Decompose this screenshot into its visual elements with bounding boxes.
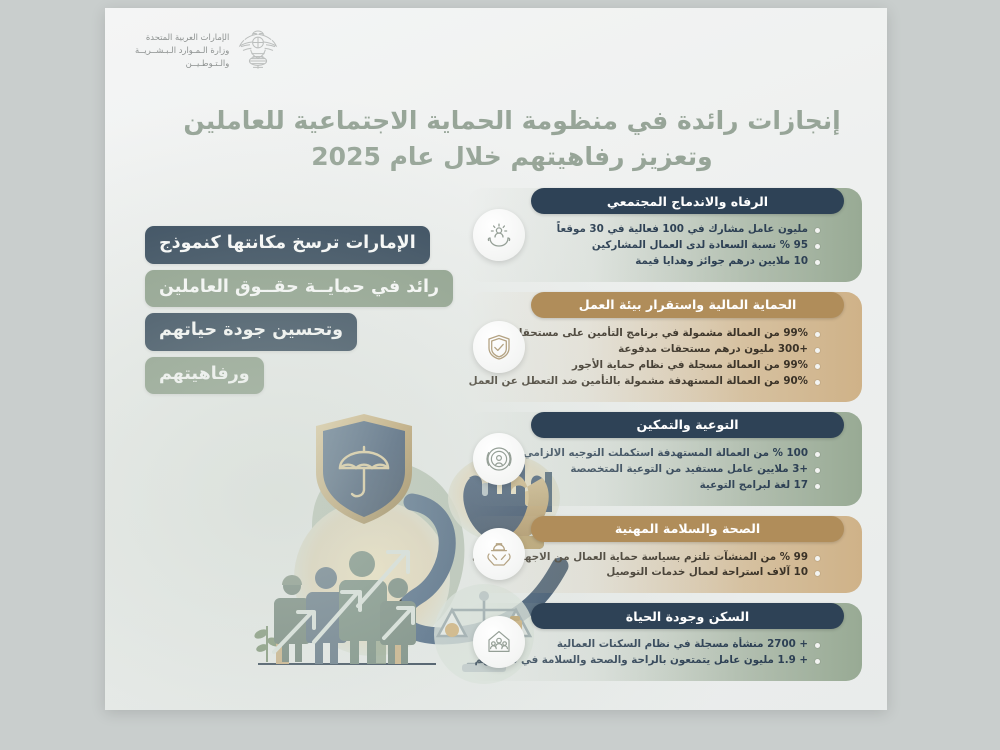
uae-falcon-emblem-icon [237,28,279,74]
poster-panel: الإمارات العربية المتحدة وزارة الـمـوارد… [105,8,887,710]
achievement-cards: الرفاه والاندماج المجتمعي مليون عامل مشا… [467,188,862,681]
card-awareness-empowerment[interactable]: التوعية والتمكين 100 % من العمالة المسته… [467,412,862,506]
tagline-1: الإمارات ترسخ مكانتها كنموذج [145,226,430,264]
list-item: 90% من العمالة المستهدفة مشمولة بالتأمين… [537,374,820,390]
tagline-3: وتحسين جودة حياتهم [145,313,357,351]
list-item: 99% من العمالة مسجلة في نظام حماية الأجو… [537,358,820,374]
infographic-poster: الإمارات العربية المتحدة وزارة الـمـوارد… [0,0,1000,750]
page-title: إنجازات رائدة في منظومة الحماية الاجتماع… [167,103,857,174]
list-item: مليون عامل مشارك في 100 فعالية في 30 موق… [537,222,820,238]
list-item: 99% من العمالة مشمولة في برنامج التأمين … [537,326,820,342]
bullet-list-awareness-empowerment: 100 % من العمالة المستهدفة استكملت التوج… [537,446,820,494]
bullet-list-health-safety: 99 % من المنشآت تلتزم بسياسة حماية العما… [537,550,820,582]
title-line-2: وتعزيز رفاهيتهم خلال عام 2025 [167,139,857,175]
card-health-safety[interactable]: الصحة والسلامة المهنية 99 % من المنشآت ت… [467,516,862,594]
bullet-list-wellbeing: مليون عامل مشارك في 100 فعالية في 30 موق… [537,222,820,270]
list-item: 100 % من العمالة المستهدفة استكملت التوج… [537,446,820,462]
awareness-broadcast-person-icon [473,433,525,485]
list-item: 99 % من المنشآت تلتزم بسياسة حماية العما… [537,550,820,566]
list-item: 10 آلاف استراحة لعمال خدمات التوصيل [537,565,820,581]
tagline-stack: الإمارات ترسخ مكانتها كنموذج رائد في حما… [145,226,475,394]
card-housing-quality-of-life[interactable]: السكن وجودة الحياة + 2700 منشأة مسجلة في… [467,603,862,681]
hands-holding-person-icon [473,209,525,261]
ministry-logo-block: الإمارات العربية المتحدة وزارة الـمـوارد… [135,28,279,74]
title-line-1: إنجازات رائدة في منظومة الحماية الاجتماع… [183,106,840,135]
hands-safety-helmet-icon [473,528,525,580]
card-title-financial-protection: الحماية المالية واستقرار بيئة العمل [531,292,844,318]
card-title-health-safety: الصحة والسلامة المهنية [531,516,844,542]
ministry-name: الإمارات العربية المتحدة وزارة الـمـوارد… [135,28,229,69]
ministry-line-1: الإمارات العربية المتحدة [135,32,229,43]
list-item: +3 ملايين عامل مستفيد من التوعية المتخصص… [537,462,820,478]
list-item: 95 % نسبة السعادة لدى العمال المشاركين [537,238,820,254]
card-title-housing-quality-of-life: السكن وجودة الحياة [531,603,844,629]
shield-check-icon [473,321,525,373]
bullet-list-housing-quality-of-life: + 2700 منشأة مسجلة في نظام السكنات العما… [537,637,820,669]
ministry-line-2: وزارة الـمـوارد الـبـشــريــة [135,45,229,56]
housing-workers-icon [473,616,525,668]
list-item: 17 لغة لبرامج التوعية [537,478,820,494]
tagline-4: ورفاهيتهم [145,357,264,395]
list-item: + 1.9 مليون عامل يتمتعون بالراحة والصحة … [537,653,820,669]
card-title-awareness-empowerment: التوعية والتمكين [531,412,844,438]
list-item: 10 ملايين درهم جوائز وهدايا قيمة [537,254,820,270]
card-title-wellbeing: الرفاه والاندماج المجتمعي [531,188,844,214]
tagline-2: رائد في حمايــة حقــوق العاملين [145,270,453,308]
list-item: + 2700 منشأة مسجلة في نظام السكنات العما… [537,637,820,653]
bullet-list-financial-protection: 99% من العمالة مشمولة في برنامج التأمين … [537,326,820,390]
card-wellbeing[interactable]: الرفاه والاندماج المجتمعي مليون عامل مشا… [467,188,862,282]
card-financial-protection[interactable]: الحماية المالية واستقرار بيئة العمل 99% … [467,292,862,402]
list-item: +300 مليون درهم مستحقات مدفوعة [537,342,820,358]
ministry-line-3: والـتـوطـيــن [135,58,229,69]
